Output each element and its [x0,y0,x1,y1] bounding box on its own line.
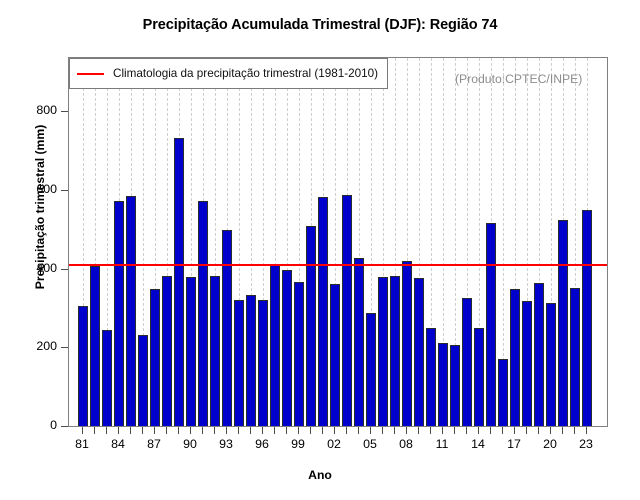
x-tick [94,427,95,434]
x-tick [370,427,371,434]
x-tick [394,427,395,434]
x-tick [310,427,311,434]
x-tick [142,427,143,434]
x-tick-label: 23 [579,437,593,451]
bar [534,283,543,427]
bar [270,264,279,427]
bar [510,289,519,427]
bar [282,270,291,427]
x-tick [418,427,419,434]
x-tick [358,427,359,434]
x-tick [238,427,239,434]
x-tick [214,427,215,434]
bar [462,298,471,427]
x-tick [586,427,587,434]
y-tick [61,347,68,348]
bar [486,223,495,427]
x-tick [166,427,167,434]
x-tick-label: 84 [111,437,125,451]
bar [78,306,87,427]
product-credit: (Produto:CPTEC/INPE) [455,72,582,86]
x-tick [574,427,575,434]
bar [294,282,303,427]
x-tick [502,427,503,434]
bar [402,261,411,427]
x-tick-label: 14 [471,437,485,451]
bar [306,226,315,427]
x-tick-label: 81 [75,437,89,451]
y-tick-label: 0 [50,418,57,432]
x-tick [154,427,155,434]
x-tick [466,427,467,434]
x-tick [178,427,179,434]
x-tick-label: 11 [436,437,449,451]
chart-title: Precipitação Acumulada Trimestral (DJF):… [0,17,640,33]
x-tick [250,427,251,434]
bar [342,195,351,427]
legend-label: Climatologia da precipitação trimestral … [113,67,378,80]
bar [258,300,267,427]
x-tick [286,427,287,434]
x-tick-label: 08 [399,437,413,451]
x-tick [334,427,335,434]
bar [354,258,363,427]
x-tick [322,427,323,434]
x-tick-label: 93 [219,437,233,451]
x-tick [406,427,407,434]
y-tick-label: 200 [36,339,57,353]
x-tick [298,427,299,434]
bar [162,276,171,427]
bar [114,201,123,427]
y-tick [61,190,68,191]
x-tick-label: 90 [183,437,197,451]
y-tick-label: 600 [36,182,57,196]
y-tick [61,426,68,427]
x-tick [562,427,563,434]
x-tick [190,427,191,434]
x-tick-label: 05 [363,437,377,451]
x-tick [106,427,107,434]
bar [90,266,99,427]
x-tick [442,427,443,434]
x-tick-label: 17 [507,437,521,451]
bar [174,138,183,427]
bar [474,328,483,427]
bar [558,220,567,427]
bar [126,196,135,427]
bar [414,278,423,427]
bar [570,288,579,427]
x-tick [382,427,383,434]
x-tick [538,427,539,434]
bar [198,201,207,427]
x-tick-label: 87 [147,437,161,451]
legend: Climatologia da precipitação trimestral … [69,58,388,89]
x-tick [430,427,431,434]
x-tick [346,427,347,434]
bar [318,197,327,427]
bar [138,335,147,427]
x-tick [274,427,275,434]
x-tick [526,427,527,434]
x-tick-label: 99 [291,437,305,451]
bar [546,303,555,427]
bar [498,359,507,427]
legend-line-swatch [77,73,104,75]
bar [366,313,375,427]
y-tick-label: 400 [36,261,57,275]
bar [234,300,243,427]
plot-area [68,57,608,427]
x-tick-label: 20 [543,437,557,451]
y-axis-label: Precipitação trimestral (mm) [33,47,47,367]
x-tick [226,427,227,434]
x-tick [514,427,515,434]
bar [390,276,399,427]
bar [438,343,447,427]
bar [102,330,111,427]
precipitation-bar-chart: Precipitação Acumulada Trimestral (DJF):… [0,0,640,500]
bar [150,289,159,427]
x-tick [118,427,119,434]
x-tick [550,427,551,434]
climatology-reference-line [69,264,607,266]
y-tick-label: 800 [36,103,57,117]
x-tick [478,427,479,434]
x-tick [82,427,83,434]
bar [582,210,591,427]
x-tick [262,427,263,434]
bar [222,230,231,427]
bar [330,284,339,427]
x-axis-label: Ano [0,468,640,482]
x-tick [130,427,131,434]
x-tick [454,427,455,434]
bar [378,277,387,427]
y-tick [61,111,68,112]
y-tick [61,269,68,270]
bar-series [69,58,607,427]
bar [210,276,219,427]
bar [246,295,255,427]
bar [186,277,195,427]
bar [522,301,531,427]
bar [450,345,459,427]
x-tick [202,427,203,434]
x-tick-label: 02 [327,437,341,451]
bar [426,328,435,427]
x-tick [490,427,491,434]
x-tick-label: 96 [255,437,269,451]
